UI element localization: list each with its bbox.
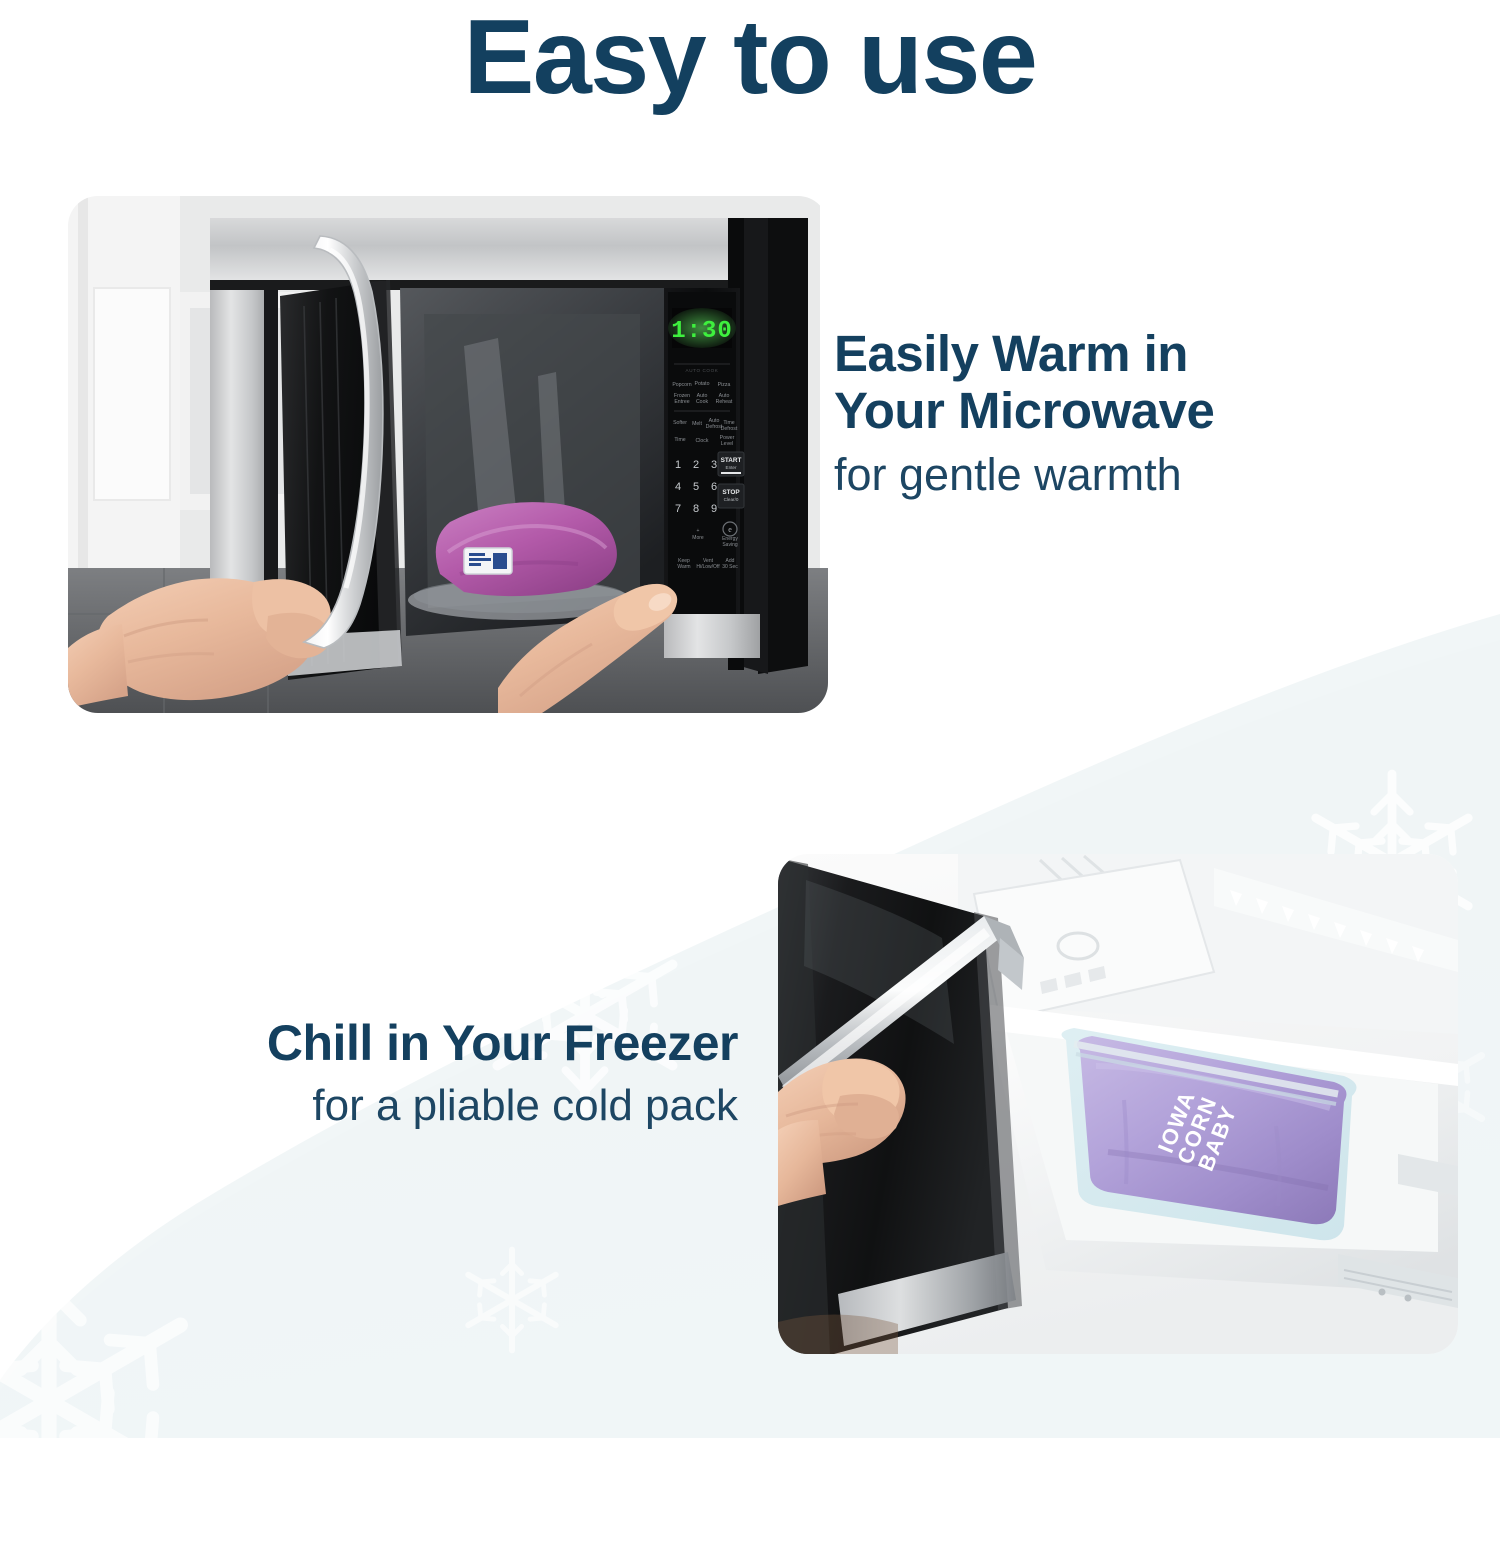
svg-text:1:30: 1:30 (671, 318, 733, 345)
svg-text:AUTO COOK: AUTO COOK (686, 368, 719, 373)
svg-text:Pizza: Pizza (718, 382, 731, 388)
freezer-photo: IOWA CORN BABY (778, 854, 1458, 1354)
svg-text:Hi/Low/Off: Hi/Low/Off (696, 564, 720, 570)
svg-text:More: More (692, 535, 704, 541)
svg-text:4: 4 (675, 481, 681, 493)
svg-text:Softer: Softer (673, 420, 687, 426)
svg-text:6: 6 (711, 481, 717, 493)
freezer-callout: Chill in Your Freezer for a pliable cold… (88, 1015, 738, 1133)
svg-text:Level: Level (721, 441, 733, 447)
svg-text:Time: Time (674, 437, 685, 443)
svg-text:+: + (697, 528, 700, 534)
svg-text:2: 2 (693, 459, 699, 471)
svg-text:START: START (721, 457, 742, 464)
svg-text:Enter: Enter (726, 465, 737, 470)
svg-text:3: 3 (711, 459, 717, 471)
svg-text:STOP: STOP (722, 489, 740, 496)
microwave-callout: Easily Warm in Your Microwave for gentle… (834, 325, 1424, 502)
microwave-heading-line2: Your Microwave (834, 382, 1424, 439)
svg-text:Cook: Cook (696, 399, 709, 405)
freezer-subtext: for a pliable cold pack (88, 1080, 738, 1133)
page-title: Easy to use (0, 2, 1500, 113)
svg-text:1: 1 (675, 459, 681, 471)
microwave-heading-line1: Easily Warm in (834, 325, 1424, 382)
svg-text:Saving: Saving (722, 542, 738, 548)
svg-text:Melt: Melt (692, 421, 702, 427)
svg-text:Clear/0: Clear/0 (724, 497, 739, 502)
svg-text:Potato: Potato (695, 381, 710, 387)
svg-text:8: 8 (693, 503, 699, 515)
freezer-heading: Chill in Your Freezer (88, 1015, 738, 1071)
svg-text:Entree: Entree (674, 399, 689, 405)
svg-text:Popcorn: Popcorn (672, 382, 691, 388)
svg-text:7: 7 (675, 503, 681, 515)
svg-text:9: 9 (711, 503, 717, 515)
svg-text:30 Sec: 30 Sec (722, 564, 738, 570)
microwave-subtext: for gentle warmth (834, 448, 1424, 502)
svg-text:Clock: Clock (696, 438, 709, 444)
microwave-photo: 1:30 AUTO COOK Popcorn Potato Pizza Froz… (68, 196, 828, 713)
svg-text:Warm: Warm (677, 564, 690, 570)
svg-text:Defrost: Defrost (721, 426, 738, 432)
svg-text:e: e (728, 525, 732, 534)
svg-text:5: 5 (693, 481, 699, 493)
svg-text:Reheat: Reheat (716, 399, 733, 405)
